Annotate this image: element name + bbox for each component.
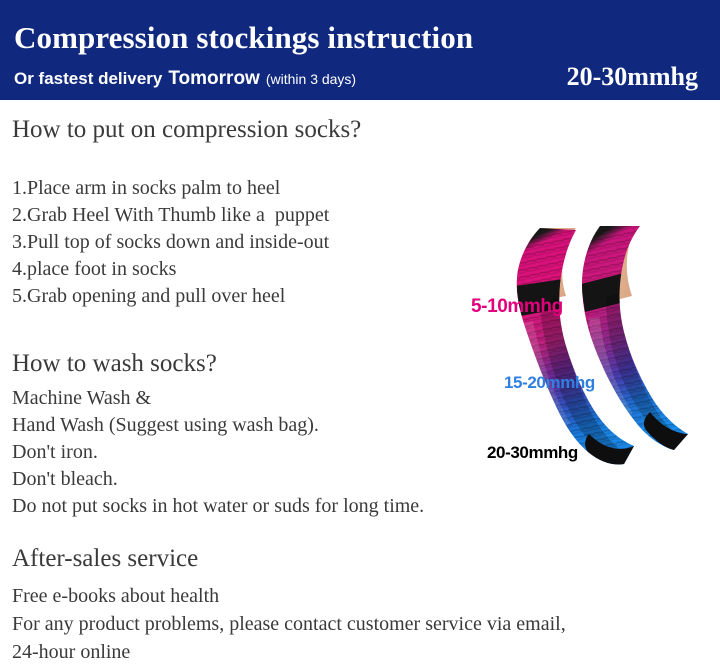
infographic-page: Compression stockings instruction Or fas… (0, 0, 720, 665)
section-heading-after-sales: After-sales service (12, 545, 198, 573)
list-item: 5.Grab opening and pull over heel (12, 283, 482, 310)
list-item: Free e-books about health (12, 582, 720, 610)
pressure-label-ankle-foot: 20-30mmhg (487, 443, 578, 463)
delivery-lead-text: Or fastest delivery (14, 69, 162, 89)
delivery-subtitle: Or fastest delivery Tomorrow (within 3 d… (14, 68, 356, 90)
put-on-steps-list: 1.Place arm in socks palm to heel 2.Grab… (0, 175, 470, 310)
list-item: 3.Pull top of socks down and inside-out (12, 229, 482, 256)
list-item: 2.Grab Heel With Thumb like a puppet (12, 202, 482, 229)
list-item: 24-hour online (12, 638, 720, 665)
list-item: 4.place foot in socks (12, 256, 482, 283)
section-heading-put-on: How to put on compression socks? (12, 116, 361, 144)
list-item: 1.Place arm in socks palm to heel (12, 175, 482, 202)
header-banner: Compression stockings instruction Or fas… (0, 0, 720, 100)
list-item: For any product problems, please contact… (12, 610, 720, 638)
pressure-label-calf-mid: 15-20mmhg (504, 373, 595, 393)
compression-socks-photo (448, 226, 720, 514)
section-heading-wash: How to wash socks? (12, 350, 217, 378)
delivery-note-text: (within 3 days) (266, 71, 356, 87)
delivery-emphasis-text: Tomorrow (168, 68, 259, 90)
page-title: Compression stockings instruction (14, 20, 473, 56)
after-sales-list: Free e-books about health For any produc… (0, 582, 710, 665)
pressure-label-calf-top: 5-10mmhg (471, 296, 563, 318)
header-pressure-badge: 20-30mmhg (567, 62, 698, 92)
